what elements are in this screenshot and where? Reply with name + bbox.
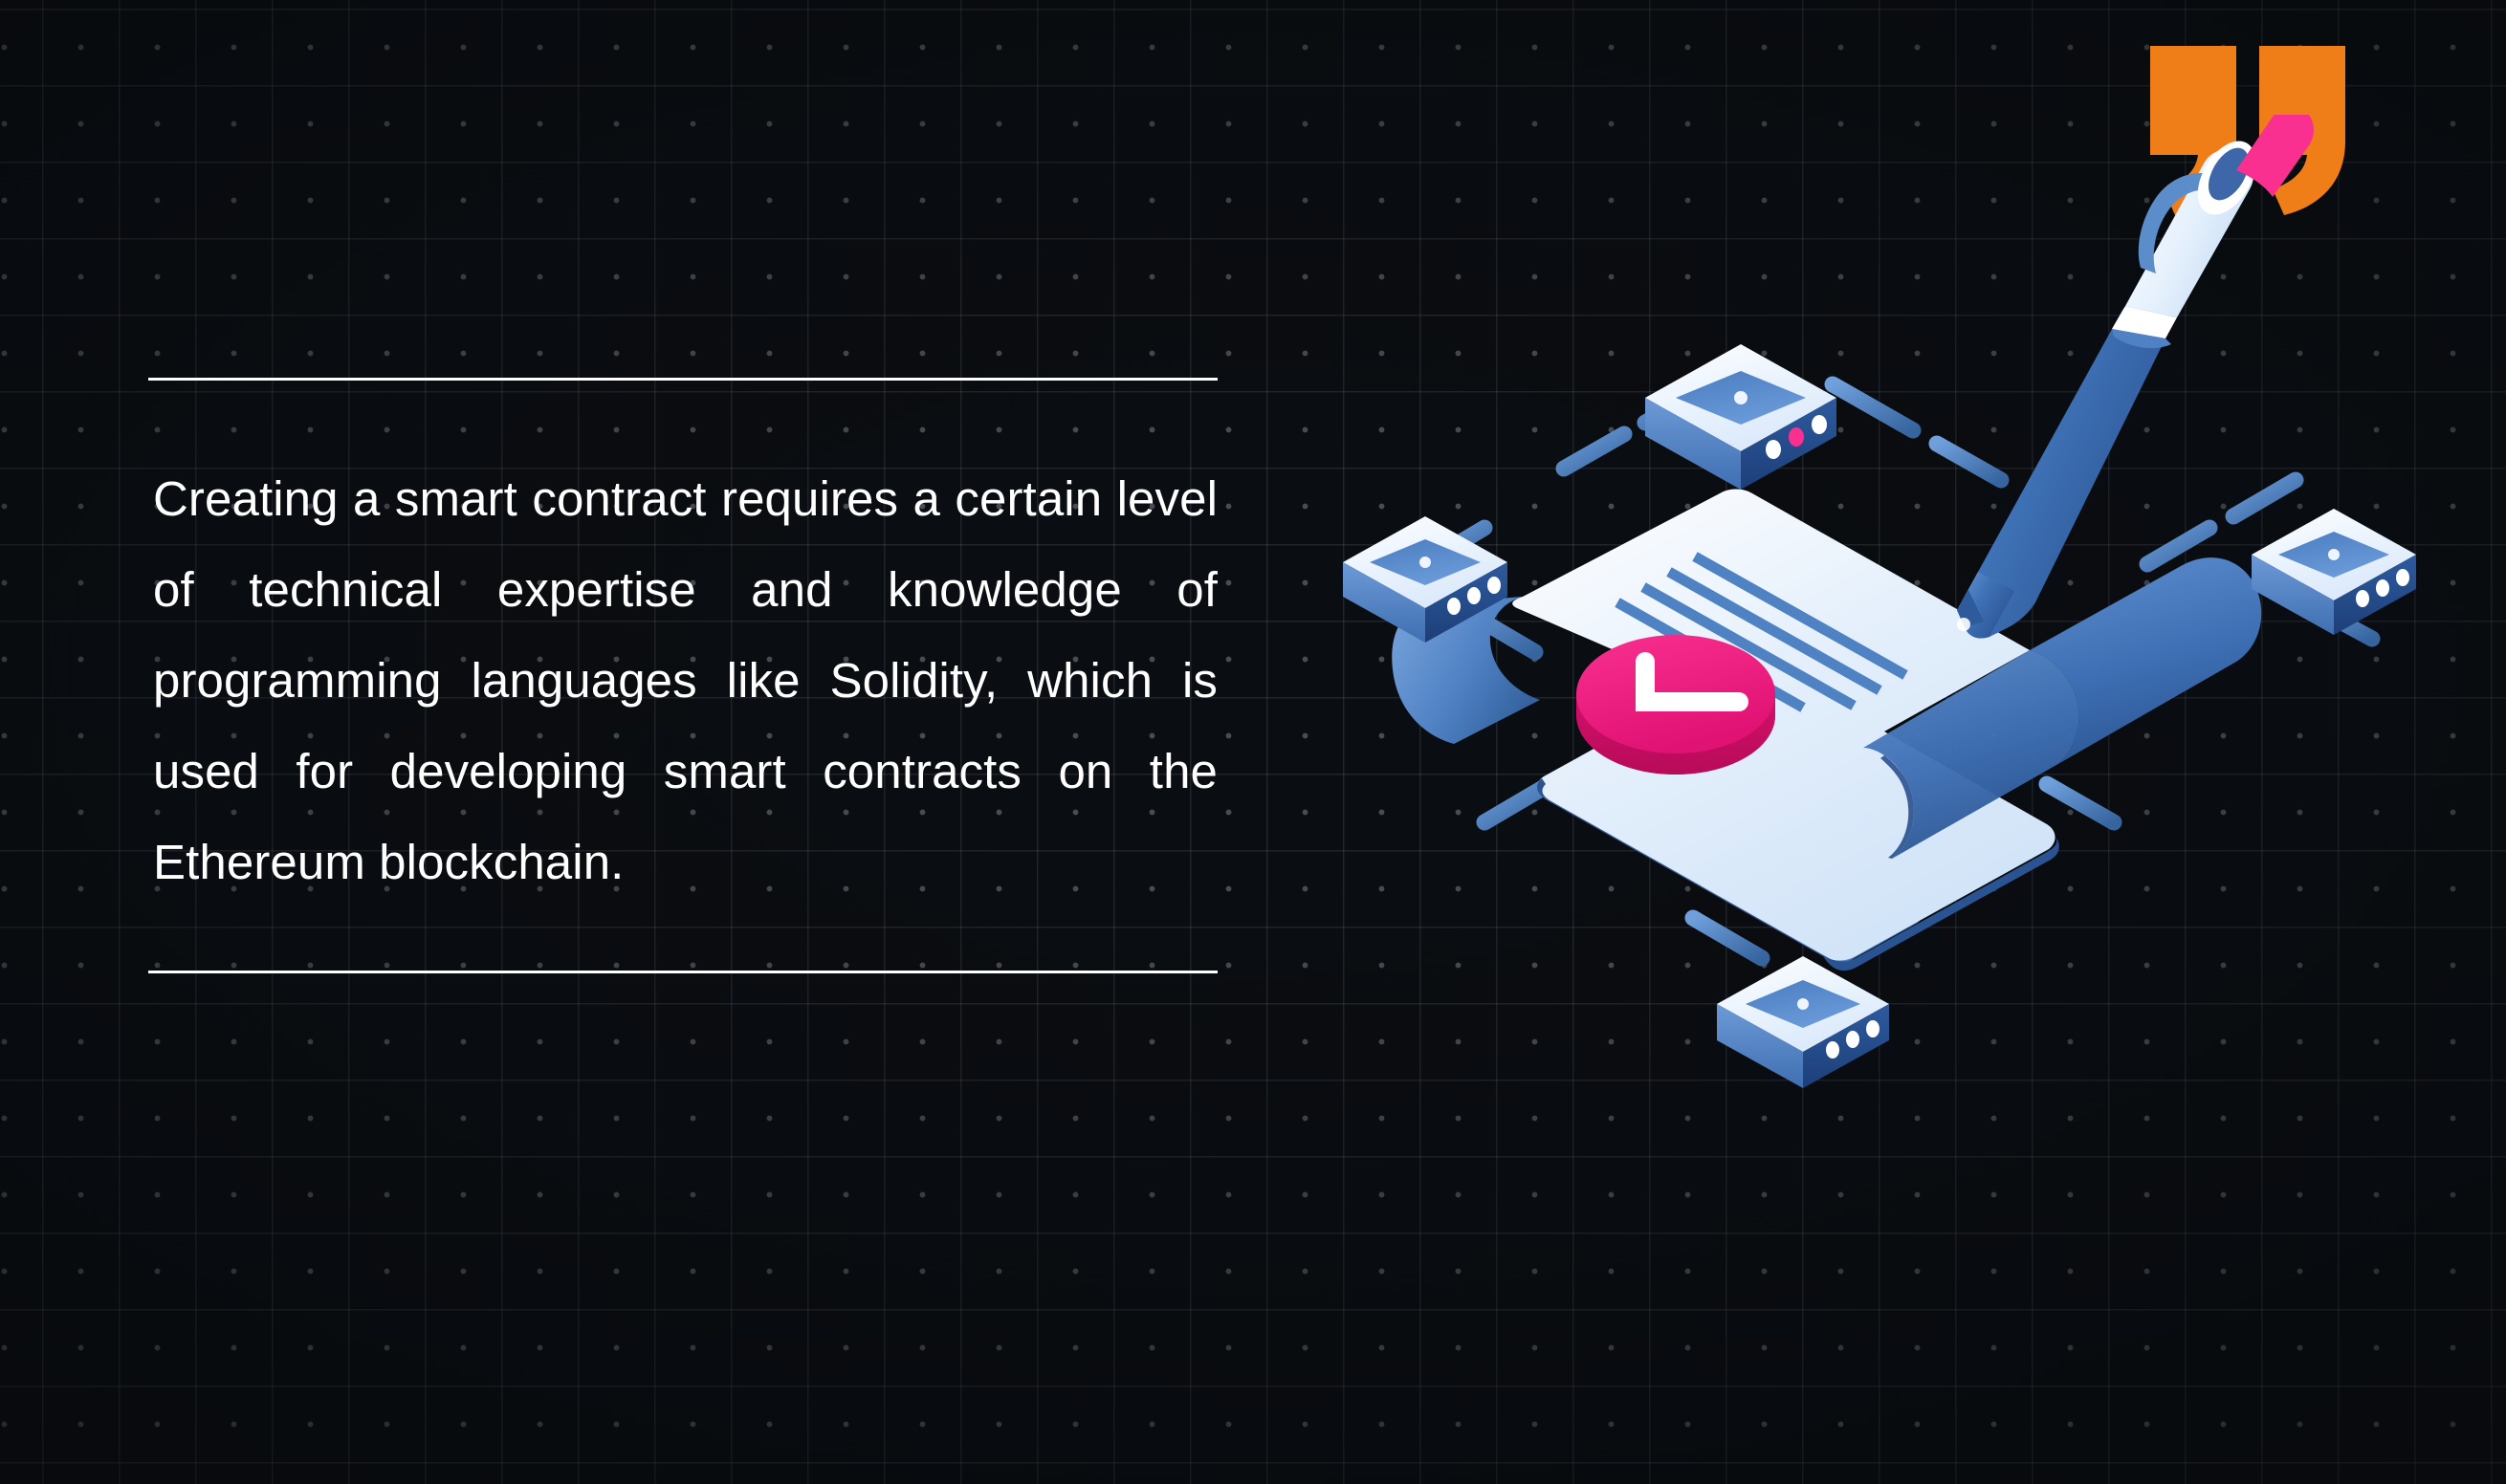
slide-canvas: Creating a smart contract requires a cer… bbox=[0, 0, 2506, 1484]
node-chip-top bbox=[1645, 344, 1836, 490]
clock-badge bbox=[1576, 635, 1775, 775]
quote-text: Creating a smart contract requires a cer… bbox=[148, 381, 1218, 971]
quote-block: Creating a smart contract requires a cer… bbox=[148, 378, 1218, 973]
smart-contract-illustration bbox=[1320, 115, 2496, 1128]
rule-bottom bbox=[148, 971, 1218, 973]
scroll-document bbox=[1392, 490, 2261, 971]
node-chip-right bbox=[2252, 509, 2416, 635]
node-chip-bottom bbox=[1717, 956, 1889, 1088]
